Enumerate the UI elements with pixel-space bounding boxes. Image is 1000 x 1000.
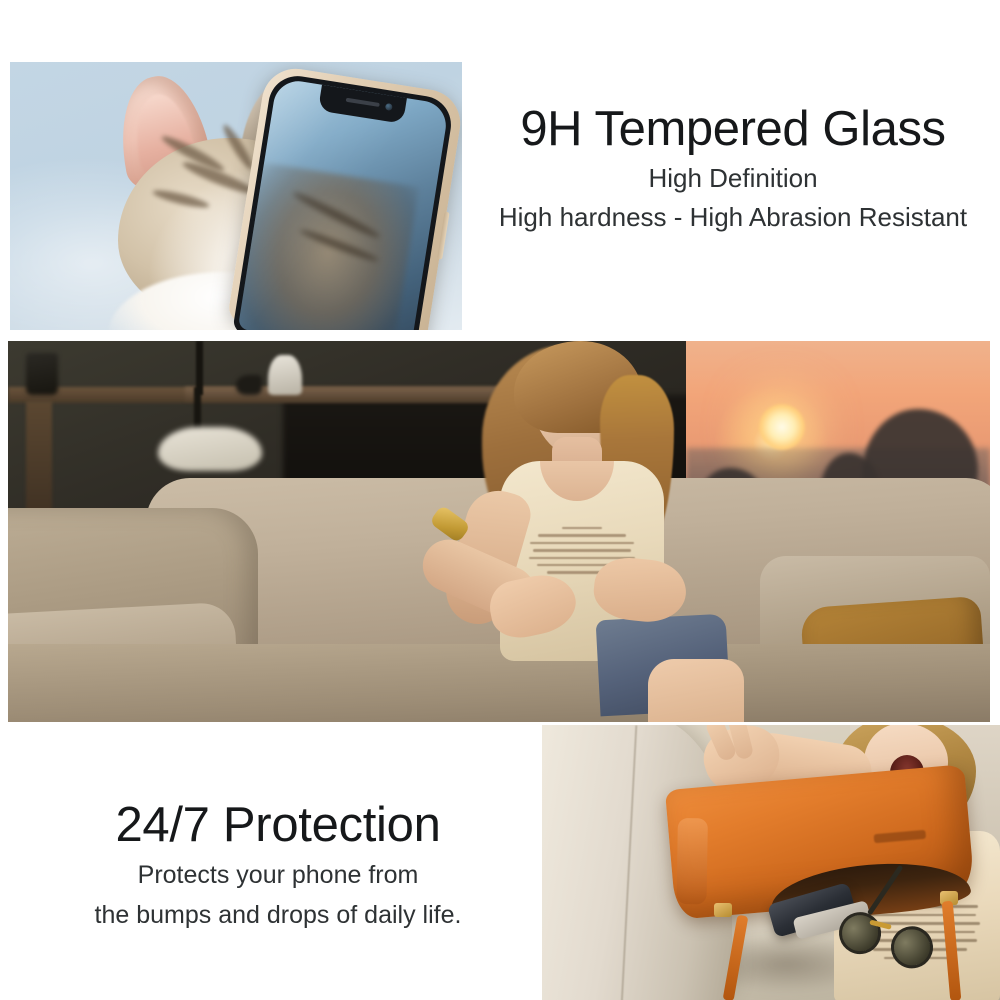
- woman-leg: [648, 659, 744, 722]
- bag-hardware-ring: [714, 903, 732, 917]
- phone-earpiece-speaker: [346, 98, 380, 107]
- tempered-glass-headline: 9H Tempered Glass: [466, 100, 1000, 158]
- smartphone-gold: [227, 64, 462, 330]
- photo-living-room-bag: [8, 341, 990, 722]
- feature-block-protection: 24/7 Protection Protects your phone from…: [18, 796, 538, 934]
- shelf-pot-decor: [26, 353, 58, 395]
- protection-subtitle-2: the bumps and drops of daily life.: [18, 896, 538, 934]
- tempered-glass-subtitle-1: High Definition: [466, 158, 1000, 198]
- photo-bag-dump: [542, 725, 1000, 1000]
- protection-subtitle-1: Protects your phone from: [18, 854, 538, 896]
- sunglasses-lens: [886, 921, 938, 973]
- protection-headline: 24/7 Protection: [18, 796, 538, 854]
- photo-kitten-phone: [10, 62, 462, 330]
- shelf-object-decor: [236, 375, 262, 395]
- tempered-glass-subtitle-2: High hardness - High Abrasion Resistant: [466, 198, 1000, 236]
- front-camera-icon: [385, 103, 393, 111]
- background-pillow: [158, 427, 262, 471]
- bag-side-fold: [676, 818, 707, 905]
- shelf-vase-decor: [268, 355, 302, 395]
- feature-block-tempered-glass: 9H Tempered Glass High Definition High h…: [466, 100, 1000, 236]
- sun-icon: [759, 404, 805, 450]
- woman-figure-seated: [448, 341, 728, 722]
